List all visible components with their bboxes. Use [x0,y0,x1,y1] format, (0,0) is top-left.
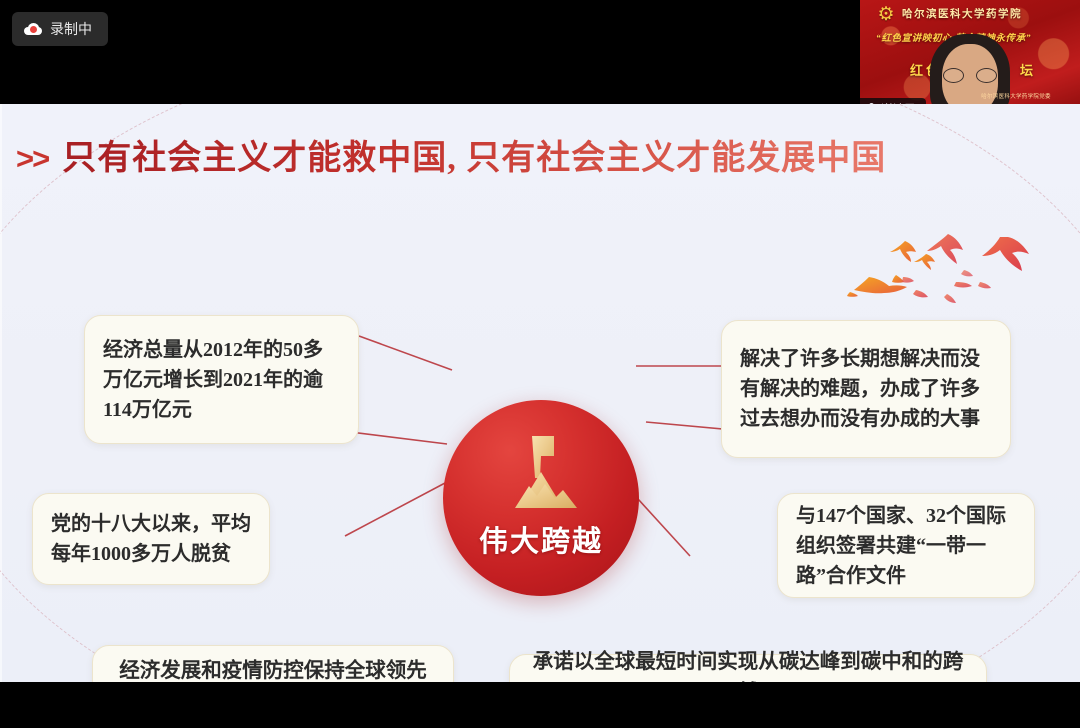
info-card-text: 经济发展和疫情防控保持全球领先 [113,656,433,682]
info-card-text: 与147个国家、32个国际组织签署共建“一带一路”合作文件 [796,501,1016,591]
center-node[interactable]: 伟大跨越 [443,400,639,596]
info-card-bottom-left[interactable]: 经济发展和疫情防控保持全球领先 [92,645,454,682]
info-card-text: 承诺以全球最短时间实现从碳达峰到碳中和的跨越 [530,647,966,682]
page-title: 只有社会主义才能救中国, 只有社会主义才能发展中国 [62,130,886,179]
info-card-text: 经济总量从2012年的50多万亿元增长到2021年的逾114万亿元 [103,335,340,425]
info-card-middle-right[interactable]: 与147个国家、32个国际组织签署共建“一带一路”合作文件 [777,493,1035,598]
info-card-text: 解决了许多长期想解决而没有解决的难题，办成了许多过去想办而没有办成的大事 [740,344,992,434]
mountain-flag-icon [493,432,589,514]
video-banner-title-right: 坛 [1020,60,1033,79]
party-emblem-icon: ⚙ [875,5,897,25]
recording-label: 录制中 [50,19,92,39]
presentation-slide: >> 只有社会主义才能救中国, 只有社会主义才能发展中国 [0,104,1080,682]
info-card-bottom-right[interactable]: 承诺以全球最短时间实现从碳达峰到碳中和的跨越 [509,654,987,682]
chevron-right-icon: >> [16,141,48,177]
info-card-middle-left[interactable]: 党的十八大以来，平均每年1000多万人脱贫 [32,493,270,585]
slide-title-row: >> 只有社会主义才能救中国, 只有社会主义才能发展中国 [16,130,886,179]
video-banner-org: 哈尔滨医科大学药学院 [902,6,1072,21]
glasses-icon [943,68,997,83]
video-caption: 哈尔滨医科大学药学院党委 [956,93,1076,102]
info-card-text: 党的十八大以来，平均每年1000多万人脱贫 [51,509,251,569]
recording-indicator[interactable]: 录制中 [12,12,108,46]
info-card-top-left[interactable]: 经济总量从2012年的50多万亿元增长到2021年的逾114万亿元 [84,315,359,444]
cloud-record-icon [24,23,42,35]
screen: 录制中 ⚙ 哈尔滨医科大学药学院 “红色宣讲映初心 革命精神永传承” 红色 坛 … [0,0,1080,728]
info-card-top-right[interactable]: 解决了许多长期想解决而没有解决的难题，办成了许多过去想办而没有办成的大事 [721,320,1011,458]
flying-birds-icon [840,232,1080,304]
center-node-label: 伟大跨越 [479,518,603,560]
